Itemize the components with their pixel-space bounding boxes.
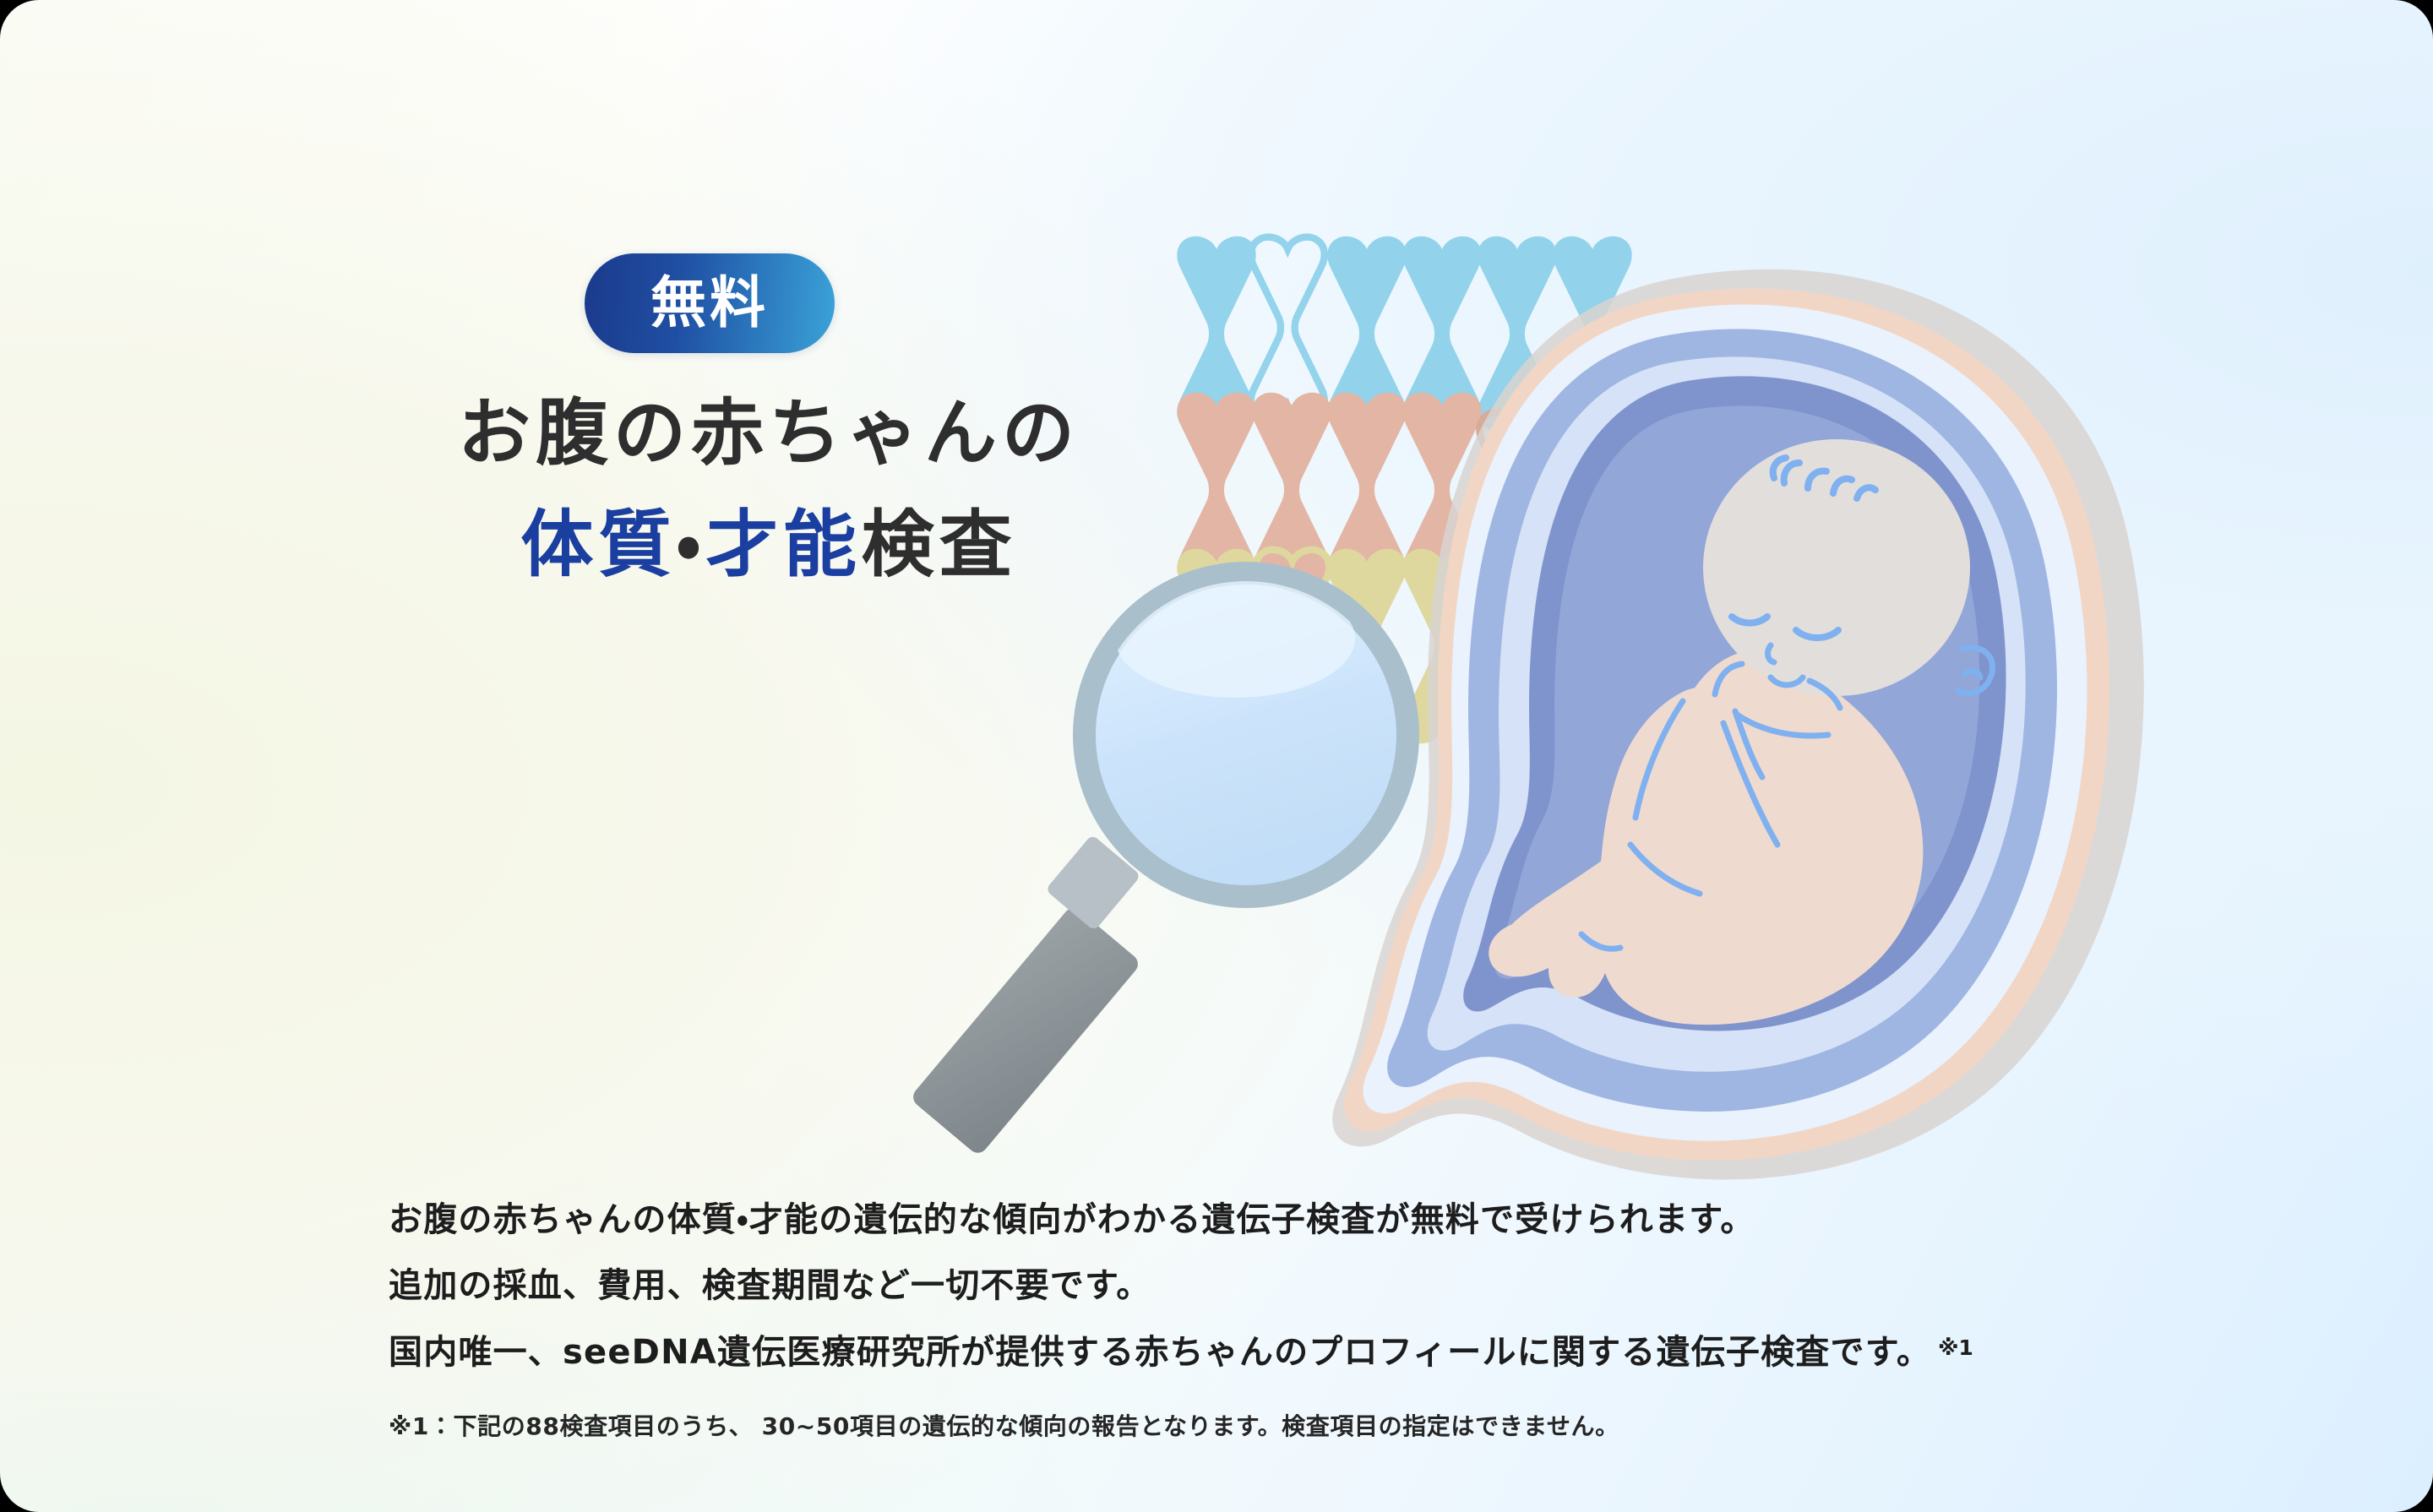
body-line-1: お腹の赤ちゃんの体質・才能の遺伝的な傾向がわかる遺伝子検査が無料で受けられます。 xyxy=(389,1187,2163,1253)
fetus-eyes xyxy=(1732,617,1838,638)
fetus-hand xyxy=(1742,655,1788,695)
title-part-sainou: 才能 xyxy=(706,503,862,587)
magnifier-rim xyxy=(1073,562,1419,908)
page-title-line-2: 体質・才能検査 xyxy=(363,493,1174,596)
title-part-taishitsu: 体質 xyxy=(520,503,676,587)
fetus-hair xyxy=(1773,458,1875,498)
chromosome-row-pink xyxy=(1177,393,1631,594)
magnifier-handle xyxy=(909,904,1142,1156)
magnifier-ferrule xyxy=(1045,835,1140,932)
womb-illustration xyxy=(1332,269,2144,1180)
womb-pale-ring xyxy=(1363,304,2087,1140)
fetus-ear xyxy=(1958,648,1993,693)
fetus-mouth xyxy=(1771,677,1803,685)
footnote: ※1：下記の88検査項目のうち、 30~50項目の遺伝的な傾向の報告となります。… xyxy=(389,1409,1619,1444)
page-title-line-1: お腹の赤ちゃんの xyxy=(363,382,1174,485)
body-line-3: 国内唯一、seeDNA遺伝医療研究所が提供する赤ちゃんのプロフィールに関する遺伝… xyxy=(389,1333,1931,1372)
magnifying-glass-icon xyxy=(909,562,1419,1157)
womb-sac xyxy=(1463,376,2006,1031)
promo-card: 無料 お腹の赤ちゃんの 体質・才能検査 お腹の赤ちゃんの体質・才能の遺伝的な傾向… xyxy=(0,0,2433,1512)
title-part-kensa: 検査 xyxy=(862,503,1017,587)
title-part-separator: ・ xyxy=(676,503,705,587)
fetus-arm xyxy=(1712,671,1811,753)
free-badge: 無料 xyxy=(585,253,835,353)
fetus-foot xyxy=(1489,914,1587,976)
body-copy: お腹の赤ちゃんの体質・才能の遺伝的な傾向がわかる遺伝子検査が無料で受けられます。… xyxy=(389,1187,2163,1385)
footnote-marker: ※1 xyxy=(1938,1335,1973,1360)
womb-peach-ring xyxy=(1344,289,2109,1161)
womb-mid-layer xyxy=(1387,329,2057,1112)
chromosome-row-yellow xyxy=(1177,549,1631,744)
fetus-leg xyxy=(1600,688,1747,939)
body-line-3-wrapper: 国内唯一、seeDNA遺伝医療研究所が提供する赤ちゃんのプロフィールに関する遺伝… xyxy=(389,1319,2163,1385)
chromosome-row-blue xyxy=(1177,237,1631,432)
womb-inner-light xyxy=(1428,356,2026,1071)
womb-sac-inner xyxy=(1494,405,1979,997)
womb-outer-ring xyxy=(1332,269,2144,1180)
magnifier-glare xyxy=(1115,579,1355,698)
fetus-illustration xyxy=(1489,439,1992,1025)
fetus-nose xyxy=(1768,645,1774,662)
fetus-ear-inner xyxy=(1965,672,1980,677)
chromosome-outlined xyxy=(1251,237,1325,418)
chromosome-outlined xyxy=(1479,412,1553,593)
fetus-body xyxy=(1499,650,1923,1025)
magnifier-lens xyxy=(1096,585,1396,885)
chromosome-grid xyxy=(1177,237,1631,744)
chromosome-outlined xyxy=(1255,550,1329,731)
fetus-contours xyxy=(1581,664,1840,949)
body-line-2: 追加の採血、費用、検査期間など一切不要です。 xyxy=(389,1253,2163,1319)
hero-text-column: 無料 お腹の赤ちゃんの 体質・才能検査 xyxy=(363,253,1174,596)
fetus-head xyxy=(1703,439,1970,696)
